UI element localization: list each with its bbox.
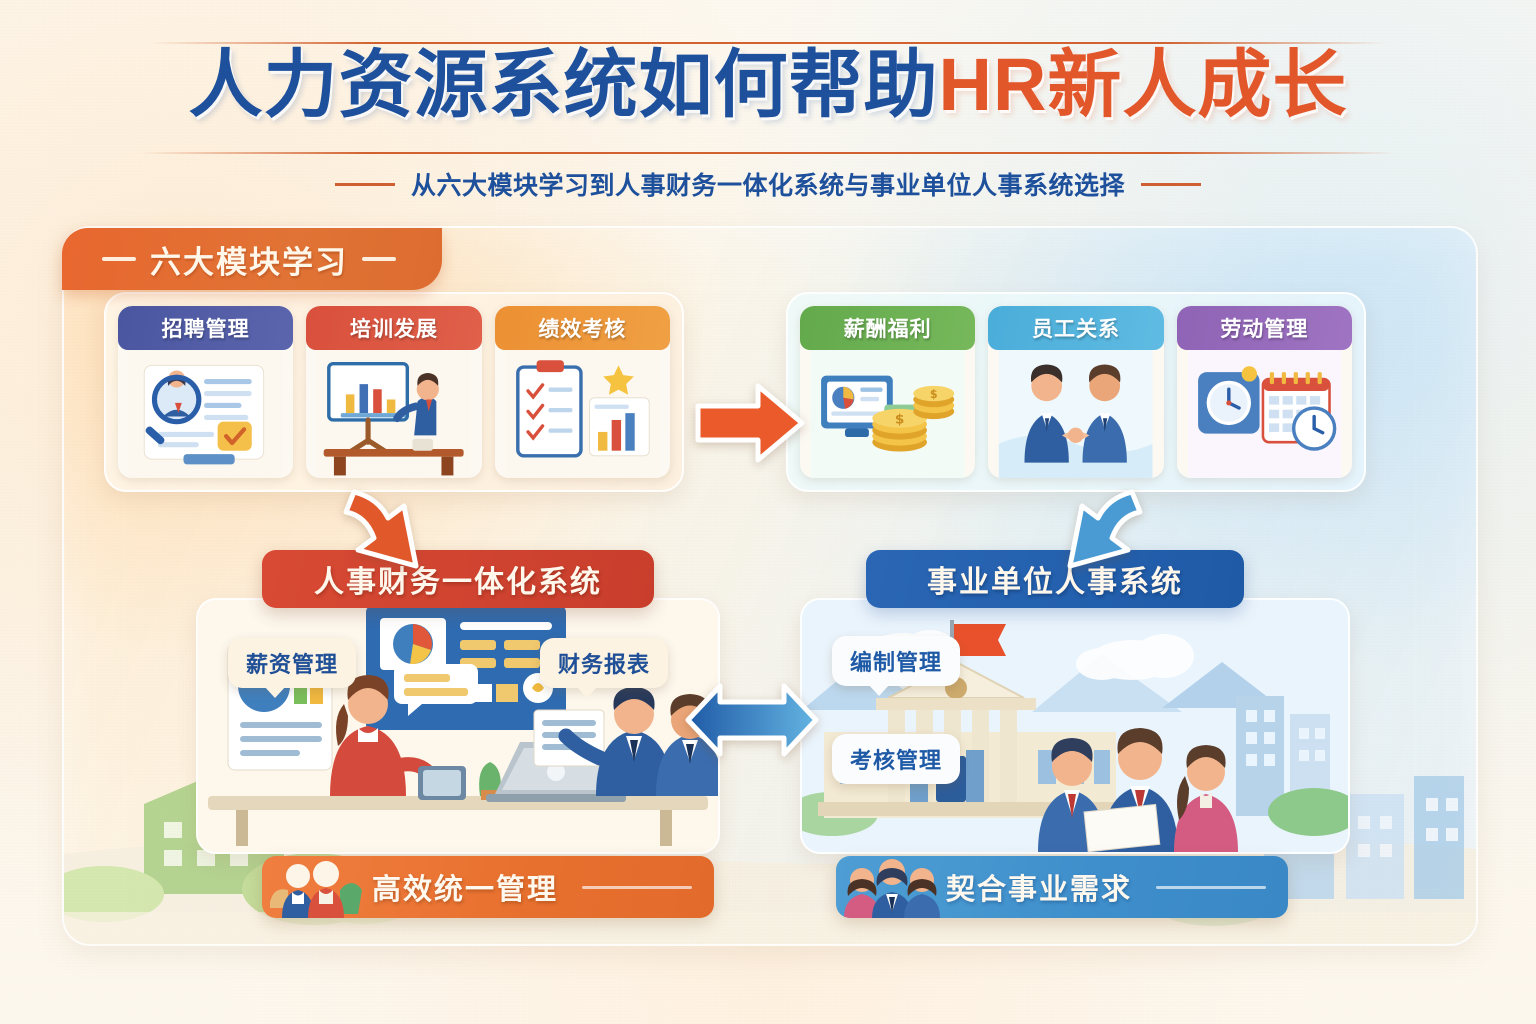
module-card-compensation[interactable]: 薪酬福利 bbox=[800, 306, 975, 478]
tag-financial-report[interactable]: 财务报表 bbox=[540, 638, 668, 688]
handshake-icon bbox=[988, 350, 1163, 478]
module-card-recruitment[interactable]: 招聘管理 bbox=[118, 306, 293, 478]
coins-money-icon: $ $ bbox=[800, 350, 975, 478]
system-banner-hr-finance: 人事财务一体化系统 bbox=[262, 550, 654, 608]
benefit-rule-left bbox=[582, 886, 692, 889]
module-card-performance[interactable]: 绩效考核 bbox=[495, 306, 670, 478]
section-dash-right bbox=[362, 257, 396, 261]
module-card-labor-label: 劳动管理 bbox=[1177, 306, 1352, 350]
module-group-left: 招聘管理 bbox=[104, 292, 684, 492]
module-card-employee-relations-illustration bbox=[988, 350, 1163, 478]
page-subtitle: 从六大模块学习到人事财务一体化系统与事业单位人事系统选择 bbox=[411, 166, 1125, 202]
page-title-blue: 人力资源系统如何帮助 bbox=[189, 43, 939, 126]
infographic-canvas: 人力资源系统如何帮助HR新人成长 从六大模块学习到人事财务一体化系统与事业单位人… bbox=[0, 0, 1536, 1024]
svg-text:$: $ bbox=[895, 411, 905, 427]
module-card-training[interactable]: 培训发展 bbox=[306, 306, 481, 478]
arrow-bidirectional-blue-icon bbox=[684, 680, 820, 760]
page-title: 人力资源系统如何帮助HR新人成长 bbox=[0, 48, 1536, 122]
module-card-compensation-label: 薪酬福利 bbox=[800, 306, 975, 350]
module-card-labor[interactable]: 劳动管理 bbox=[1177, 306, 1352, 478]
svg-text:$: $ bbox=[930, 388, 938, 401]
module-card-performance-label: 绩效考核 bbox=[495, 306, 670, 350]
tag-staffing-management[interactable]: 编制管理 bbox=[832, 636, 960, 686]
module-card-recruitment-illustration bbox=[118, 350, 293, 478]
three-people-icon bbox=[836, 856, 946, 918]
benefit-label-institution-fit: 契合事业需求 bbox=[946, 866, 1132, 908]
module-card-compensation-illustration: $ $ bbox=[800, 350, 975, 478]
tag-salary-management[interactable]: 薪资管理 bbox=[228, 638, 356, 688]
header-rule-bottom bbox=[140, 152, 1396, 154]
resume-magnifier-icon bbox=[118, 350, 293, 478]
arrow-down-right-orange-icon bbox=[332, 488, 442, 578]
module-group-right: 薪酬福利 bbox=[786, 292, 1366, 492]
arrow-down-left-blue-icon bbox=[1044, 488, 1154, 578]
module-card-labor-illustration bbox=[1177, 350, 1352, 478]
section-banner-label: 六大模块学习 bbox=[150, 237, 348, 282]
subtitle-row: 从六大模块学习到人事财务一体化系统与事业单位人事系统选择 bbox=[0, 166, 1536, 202]
section-dash-left bbox=[102, 257, 136, 261]
arrow-right-orange-icon bbox=[694, 378, 806, 468]
two-people-icon bbox=[262, 856, 372, 918]
module-card-performance-illustration bbox=[495, 350, 670, 478]
clock-calendar-icon bbox=[1177, 350, 1352, 478]
module-card-employee-relations-label: 员工关系 bbox=[988, 306, 1163, 350]
module-card-recruitment-label: 招聘管理 bbox=[118, 306, 293, 350]
presentation-trainer-icon bbox=[306, 350, 481, 478]
tag-assessment-management[interactable]: 考核管理 bbox=[832, 734, 960, 784]
benefit-bar-efficiency: 高效统一管理 bbox=[262, 856, 714, 918]
benefit-bar-institution-fit: 契合事业需求 bbox=[836, 856, 1288, 918]
subtitle-dash-left bbox=[335, 183, 395, 186]
page-title-orange: HR新人成长 bbox=[939, 43, 1348, 126]
module-card-training-illustration bbox=[306, 350, 481, 478]
system-panel-hr-finance bbox=[196, 598, 720, 854]
module-card-employee-relations[interactable]: 员工关系 bbox=[988, 306, 1163, 478]
section-banner-six-modules: 六大模块学习 bbox=[62, 228, 442, 290]
module-card-training-label: 培训发展 bbox=[306, 306, 481, 350]
checklist-chart-icon bbox=[495, 350, 670, 478]
benefit-label-efficiency: 高效统一管理 bbox=[372, 866, 558, 908]
benefit-rule-right bbox=[1156, 886, 1266, 889]
header: 人力资源系统如何帮助HR新人成长 从六大模块学习到人事财务一体化系统与事业单位人… bbox=[0, 0, 1536, 212]
subtitle-dash-right bbox=[1141, 183, 1201, 186]
